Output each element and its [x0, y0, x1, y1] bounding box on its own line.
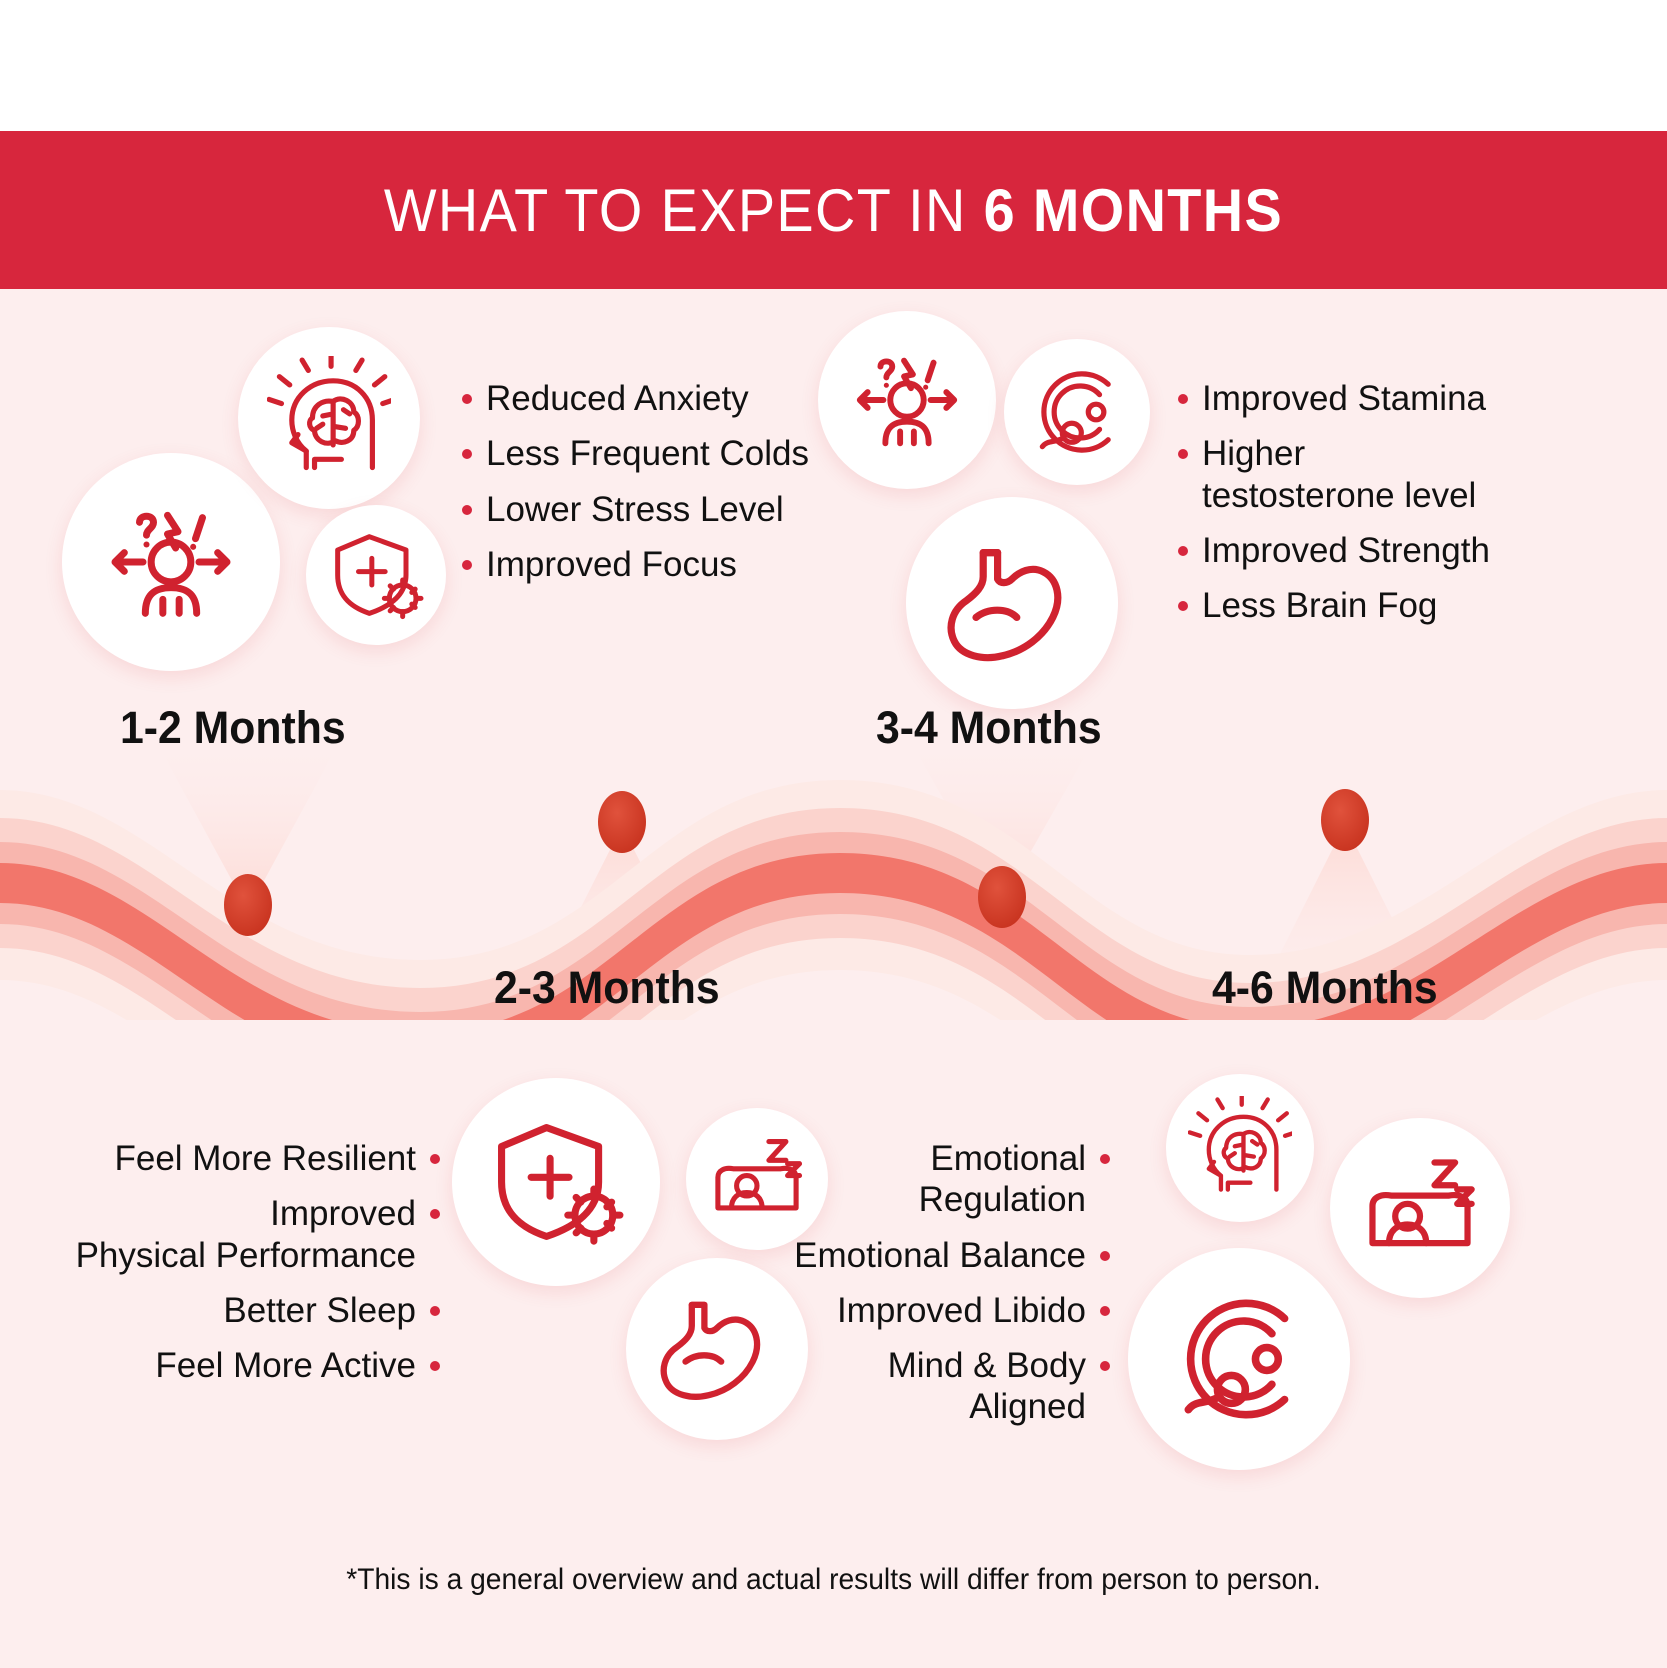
- bubble-shield-immunity-icon: [306, 505, 446, 645]
- sleep-person-icon: [1358, 1146, 1482, 1270]
- bullet-dot: [1178, 449, 1188, 459]
- stage-2-benefits-list: Improved Stamina Higher testosterone lev…: [1178, 378, 1598, 640]
- stress-person-icon: [101, 492, 241, 632]
- muscle-arm-icon: [940, 531, 1084, 675]
- bullet-dot: [462, 560, 472, 570]
- benefit-text: Improved Physical Performance: [76, 1193, 416, 1276]
- bubble-fertility-icon-2: [1128, 1248, 1350, 1470]
- timeline-dot-3: [978, 866, 1026, 928]
- head-brain-icon: [267, 356, 391, 480]
- stage-label-2-3-months: 2-3 Months: [494, 962, 720, 1014]
- list-item: Improved Stamina: [1178, 378, 1598, 419]
- benefit-text: Emotional Regulation: [919, 1138, 1086, 1221]
- list-item: Improved Strength: [1178, 530, 1598, 571]
- stage-label-3-4-months: 3-4 Months: [876, 702, 1102, 754]
- list-item: Mind & Body Aligned: [790, 1345, 1110, 1428]
- bubble-head-brain-icon-2: [1166, 1074, 1314, 1222]
- header-banner: WHAT TO EXPECT IN 6 MONTHS: [0, 131, 1667, 289]
- infographic-page: WHAT TO EXPECT IN 6 MONTHS: [0, 0, 1667, 1668]
- bullet-dot: [1178, 546, 1188, 556]
- list-item: Feel More Active: [40, 1345, 440, 1386]
- benefit-text: Less Brain Fog: [1202, 585, 1437, 626]
- benefit-text: Emotional Balance: [794, 1235, 1086, 1276]
- bullet-dot: [430, 1306, 440, 1316]
- fertility-icon: [1025, 360, 1129, 464]
- bullet-dot: [1178, 394, 1188, 404]
- page-title-bold: 6 MONTHS: [984, 177, 1283, 244]
- bubble-sleep-person-icon-2: [1330, 1118, 1510, 1298]
- bullet-dot: [462, 449, 472, 459]
- timeline-dot-4: [1321, 789, 1369, 851]
- timeline-dot-1: [224, 874, 272, 936]
- fertility-icon: [1163, 1283, 1315, 1435]
- list-item: Higher testosterone level: [1178, 433, 1598, 516]
- bubble-muscle-arm-icon-2: [626, 1258, 808, 1440]
- stress-person-icon: [848, 341, 966, 459]
- page-title-plain: WHAT TO EXPECT IN: [384, 177, 984, 244]
- muscle-arm-icon: [654, 1286, 780, 1412]
- list-item: Emotional Regulation: [790, 1138, 1110, 1221]
- benefit-text: Improved Focus: [486, 544, 737, 585]
- bubble-muscle-arm-icon: [906, 497, 1118, 709]
- bullet-dot: [462, 505, 472, 515]
- stage-label-1-2-months: 1-2 Months: [120, 702, 346, 754]
- benefit-text: Better Sleep: [223, 1290, 416, 1331]
- list-item: Improved Physical Performance: [40, 1193, 440, 1276]
- list-item: Lower Stress Level: [462, 489, 842, 530]
- timeline-dot-2: [598, 791, 646, 853]
- list-item: Feel More Resilient: [40, 1138, 440, 1179]
- bullet-dot: [1100, 1154, 1110, 1164]
- bubble-stress-person-icon-2: [818, 311, 996, 489]
- list-item: Emotional Balance: [790, 1235, 1110, 1276]
- shield-immunity-icon: [485, 1111, 627, 1253]
- list-item: Less Brain Fog: [1178, 585, 1598, 626]
- benefit-text: Improved Strength: [1202, 530, 1490, 571]
- bubble-shield-immunity-icon-2: [452, 1078, 660, 1286]
- head-brain-icon: [1188, 1096, 1292, 1200]
- stage-3-benefits-list: Feel More Resilient Improved Physical Pe…: [40, 1138, 440, 1400]
- bullet-dot: [430, 1154, 440, 1164]
- benefit-text: Higher testosterone level: [1202, 433, 1476, 516]
- benefit-text: Improved Libido: [837, 1290, 1086, 1331]
- bullet-dot: [430, 1361, 440, 1371]
- benefit-text: Feel More Active: [155, 1345, 416, 1386]
- benefit-text: Improved Stamina: [1202, 378, 1486, 419]
- bullet-dot: [1100, 1306, 1110, 1316]
- benefit-text: Lower Stress Level: [486, 489, 784, 530]
- stage-1-benefits-list: Reduced Anxiety Less Frequent Colds Lowe…: [462, 378, 842, 599]
- bubble-fertility-icon: [1004, 339, 1150, 485]
- bullet-dot: [1178, 601, 1188, 611]
- list-item: Less Frequent Colds: [462, 433, 842, 474]
- benefit-text: Feel More Resilient: [115, 1138, 417, 1179]
- bullet-dot: [1100, 1251, 1110, 1261]
- bullet-dot: [1100, 1361, 1110, 1371]
- benefit-text: Reduced Anxiety: [486, 378, 749, 419]
- bubble-stress-person-icon: [62, 453, 280, 671]
- stage-4-benefits-list: Emotional Regulation Emotional Balance I…: [790, 1138, 1110, 1442]
- list-item: Better Sleep: [40, 1290, 440, 1331]
- list-item: Reduced Anxiety: [462, 378, 842, 419]
- list-item: Improved Focus: [462, 544, 842, 585]
- page-title: WHAT TO EXPECT IN 6 MONTHS: [384, 176, 1283, 245]
- benefit-text: Mind & Body Aligned: [888, 1345, 1086, 1428]
- bubble-head-brain-icon: [238, 327, 420, 509]
- bullet-dot: [462, 394, 472, 404]
- bullet-dot: [430, 1209, 440, 1219]
- footnote-disclaimer: *This is a general overview and actual r…: [50, 1563, 1617, 1597]
- list-item: Improved Libido: [790, 1290, 1110, 1331]
- shield-immunity-icon: [326, 525, 426, 625]
- benefit-text: Less Frequent Colds: [486, 433, 809, 474]
- stage-label-4-6-months: 4-6 Months: [1212, 962, 1438, 1014]
